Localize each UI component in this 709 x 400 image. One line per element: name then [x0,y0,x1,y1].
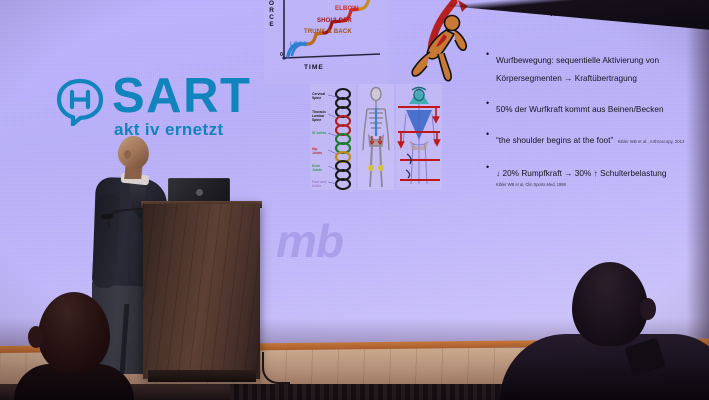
sart-wordmark: SART [112,72,251,121]
chart-segment-label-trunk: TRUNK & BACK [304,29,352,35]
lectern-cable [262,352,290,384]
presenter-arm [92,193,121,288]
slide-bullet-4-citation: Kibler WB et al, Clin Sports Med, 1998 [496,182,700,187]
slide-bullet-1-text: Wurfbewegung: sequentielle Aktivierung v… [496,56,659,83]
chart-segment-label-shoulder: SHOULDER [317,18,352,24]
audience-member-left [14,290,134,400]
skeleton-kinetic-chain-diagram [358,84,394,190]
throwing-athlete-figure [396,0,482,88]
force-vector-body-diagram [396,84,442,190]
anatomy-figure-group: Cervical Spine Thoracic Lumbar Spine SI … [310,84,442,190]
svg-text:Joints: Joints [312,151,322,155]
wooden-lectern [143,204,260,379]
chart-segment-label-elbow: ELBOW [335,6,358,12]
slide-bullet-4-text: ↓ 20% Rumpfkraft → 30% ↑ Schulterbelastu… [496,169,666,178]
audience-right-ear [640,298,656,320]
svg-text:Ankle: Ankle [312,184,321,188]
slide-bullet-2: 50% der Wurfkraft kommt aus Beinen/Becke… [484,99,700,117]
laptop-logo-icon [196,189,203,196]
speech-bubble-h-icon [56,78,104,126]
audience-right-head [572,262,648,346]
conference-photo: SART akt iv ernetzt mb FORCE 0 [0,0,709,400]
svg-text:Joints: Joints [312,168,322,172]
slide-kinematische-kette: Kinematische Kette Wurfbewegung: sequent… [476,0,707,200]
spine-chain-links-diagram: Cervical Spine Thoracic Lumbar Spine SI … [310,84,356,190]
force-time-chart: FORCE 0 TIME LEGS TRUNK & BACK SHOULDER … [264,0,388,84]
chart-origin-label: 0 [280,52,283,58]
slide-bullet-1: Wurfbewegung: sequentielle Aktivierung v… [484,50,700,86]
slide-bullet-3: “the shoulder begins at the foot” Kibler… [484,130,700,148]
audience-member-right [500,262,709,400]
slide-bullet-4: ↓ 20% Rumpfkraft → 30% ↑ Schulterbelastu… [484,163,700,187]
svg-text:Spine: Spine [312,118,321,122]
slide-bullet-3-citation: Kibler WB et al., Arthroscopy, 2013 [618,139,685,144]
chart-x-axis-label: TIME [304,64,324,71]
chart-svg [264,0,388,84]
svg-text:Spine: Spine [312,96,321,100]
presenter-ear [124,150,131,159]
chart-y-axis-label: FORCE [266,0,277,29]
lectern-wood-grain [143,204,260,379]
audience-left-ear [28,326,44,348]
presenter-head [116,134,150,170]
slide-bullet-list: Wurfbewegung: sequentielle Aktivierung v… [484,50,700,198]
audience-left-head [38,292,110,372]
slide-bullet-2-text: 50% der Wurfkraft kommt aus Beinen/Becke… [496,105,664,114]
mb-watermark: mb [276,218,343,264]
anat-caption-si: SI Joints [312,131,326,135]
slide-bullet-3-text: “the shoulder begins at the foot” [496,136,613,145]
lectern-base [148,370,256,382]
chart-segment-label-legs: LEGS [290,42,307,48]
